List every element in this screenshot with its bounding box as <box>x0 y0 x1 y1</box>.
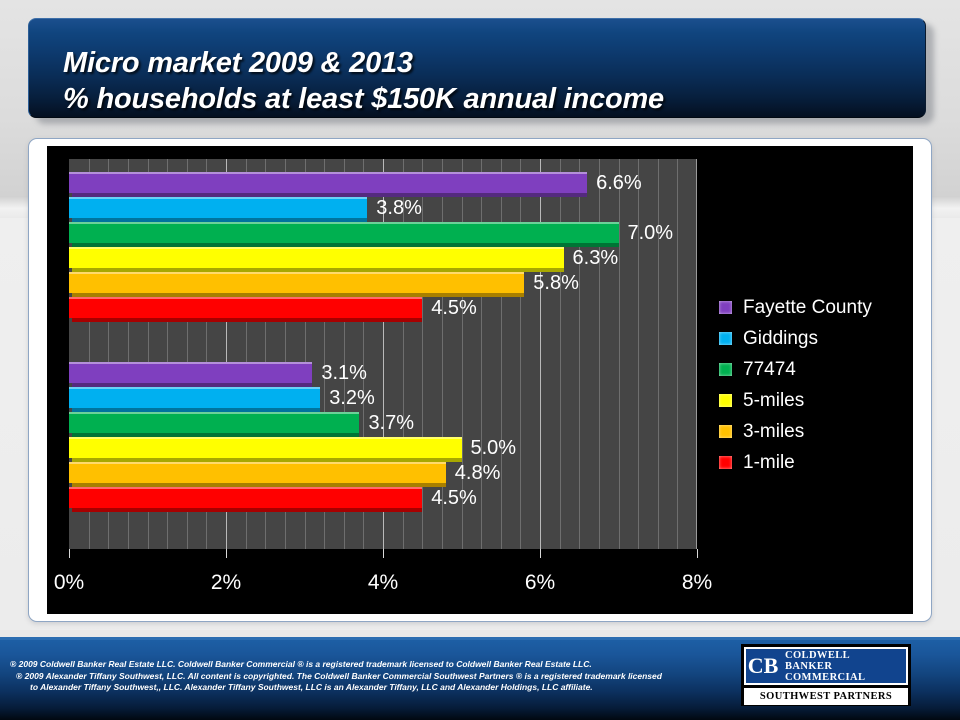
gridline-minor <box>481 159 482 549</box>
bar-face <box>69 487 422 508</box>
bar <box>69 387 320 412</box>
axis-tick-mark <box>383 549 384 558</box>
bar-highlight <box>69 362 312 364</box>
axis-tick-mark <box>540 549 541 558</box>
bar-value-label: 5.0% <box>471 436 517 461</box>
legend-item-5-miles[interactable]: 5-miles <box>719 385 909 416</box>
axis-tick-label: 4% <box>368 571 398 595</box>
bar-face <box>69 362 312 383</box>
axis-tick-label: 8% <box>682 571 712 595</box>
bar-value-label: 4.8% <box>455 461 501 486</box>
bar-highlight <box>69 487 422 489</box>
title-bar: Micro market 2009 & 2013 % households at… <box>28 18 926 118</box>
bar-highlight <box>69 387 320 389</box>
legend-label: 1-mile <box>743 452 795 474</box>
cb-monogram-icon: CB <box>746 649 780 683</box>
footer-copyright-line-3: to Alexander Tiffany Southwest,, LLC. Al… <box>8 682 728 694</box>
legend-item-fayette-county[interactable]: Fayette County <box>719 292 909 323</box>
bar-highlight <box>69 172 587 174</box>
axis-tick-mark <box>69 549 70 558</box>
bar <box>69 247 564 272</box>
bar <box>69 362 312 387</box>
bar <box>69 197 367 222</box>
legend-item-3-miles[interactable]: 3-miles <box>719 416 909 447</box>
legend-swatch-icon <box>719 363 732 376</box>
legend-swatch-icon <box>719 425 732 438</box>
bar-value-label: 3.1% <box>321 361 367 386</box>
gridline-minor <box>560 159 561 549</box>
chart-canvas: 6.6%3.8%7.0%6.3%5.8%4.5%3.1%3.2%3.7%5.0%… <box>47 146 913 614</box>
gridline-minor <box>501 159 502 549</box>
bar-face <box>69 197 367 218</box>
bar-highlight <box>69 297 422 299</box>
gridline-minor <box>638 159 639 549</box>
bar <box>69 297 422 322</box>
bar <box>69 487 422 512</box>
legend-item-giddings[interactable]: Giddings <box>719 323 909 354</box>
gridline-minor <box>422 159 423 549</box>
legend-label: Giddings <box>743 328 818 350</box>
bar-value-label: 6.3% <box>573 246 619 271</box>
bar-value-label: 5.8% <box>533 271 579 296</box>
bar-face <box>69 272 524 293</box>
bar-highlight <box>69 437 462 439</box>
bar-face <box>69 297 422 318</box>
axis-tick-label: 2% <box>211 571 241 595</box>
bar <box>69 437 462 462</box>
legend-swatch-icon <box>719 456 732 469</box>
axis-tick-label: 6% <box>525 571 555 595</box>
bar-face <box>69 412 359 433</box>
bar <box>69 412 359 437</box>
bar-highlight <box>69 197 367 199</box>
footer-copyright: ® 2009 Coldwell Banker Real Estate LLC. … <box>8 659 728 694</box>
bar-highlight <box>69 412 359 414</box>
axis-tick-label: 0% <box>54 571 84 595</box>
bar-shadow <box>72 318 422 322</box>
logo-word-coldwell: COLDWELL <box>785 650 906 661</box>
axis-tick-mark <box>226 549 227 558</box>
bar <box>69 172 587 197</box>
bar-face <box>69 222 619 243</box>
slide: Micro market 2009 & 2013 % households at… <box>0 0 960 720</box>
bar-value-label: 3.2% <box>329 386 375 411</box>
bar-highlight <box>69 222 619 224</box>
gridline-minor <box>658 159 659 549</box>
coldwell-banker-logo: CB COLDWELL BANKER COMMERCIAL SOUTHWEST … <box>741 644 911 706</box>
bar-value-label: 7.0% <box>628 221 674 246</box>
bar <box>69 462 446 487</box>
chart-legend: Fayette CountyGiddings774745-miles3-mile… <box>719 292 909 478</box>
bar <box>69 272 524 297</box>
slide-title: Micro market 2009 & 2013 % households at… <box>63 45 893 117</box>
legend-label: 77474 <box>743 359 796 381</box>
gridline-minor <box>599 159 600 549</box>
bar <box>69 222 619 247</box>
bar-face <box>69 247 564 268</box>
footer-copyright-line-1: ® 2009 Coldwell Banker Real Estate LLC. … <box>8 659 728 671</box>
gridline-minor <box>579 159 580 549</box>
gridline-minor <box>677 159 678 549</box>
bar-shadow <box>72 508 422 512</box>
legend-item-77474[interactable]: 77474 <box>719 354 909 385</box>
gridline-minor <box>619 159 620 549</box>
bar-face <box>69 387 320 408</box>
bar-value-label: 4.5% <box>431 486 477 511</box>
bar-value-label: 3.7% <box>368 411 414 436</box>
bar-highlight <box>69 462 446 464</box>
footer-copyright-line-2: ® 2009 Alexander Tiffany Southwest, LLC.… <box>8 671 728 683</box>
gridline-major <box>540 159 541 549</box>
legend-swatch-icon <box>719 301 732 314</box>
bar-face <box>69 172 587 193</box>
legend-label: 5-miles <box>743 390 804 412</box>
logo-word-commercial: COMMERCIAL <box>785 672 906 683</box>
logo-tagline: SOUTHWEST PARTNERS <box>744 688 908 705</box>
legend-label: Fayette County <box>743 297 872 319</box>
legend-swatch-icon <box>719 332 732 345</box>
legend-label: 3-miles <box>743 421 804 443</box>
logo-top-row: CB COLDWELL BANKER COMMERCIAL <box>744 647 908 685</box>
bar-value-label: 4.5% <box>431 296 477 321</box>
logo-wordmark: COLDWELL BANKER COMMERCIAL <box>780 649 906 683</box>
axis-tick-mark <box>697 549 698 558</box>
gridline-minor <box>520 159 521 549</box>
legend-swatch-icon <box>719 394 732 407</box>
bar-face <box>69 462 446 483</box>
logo-word-banker: BANKER <box>785 661 906 672</box>
legend-item-1-mile[interactable]: 1-mile <box>719 447 909 478</box>
bar-highlight <box>69 247 564 249</box>
bar-face <box>69 437 462 458</box>
bar-highlight <box>69 272 524 274</box>
bar-value-label: 3.8% <box>376 196 422 221</box>
bar-value-label: 6.6% <box>596 171 642 196</box>
